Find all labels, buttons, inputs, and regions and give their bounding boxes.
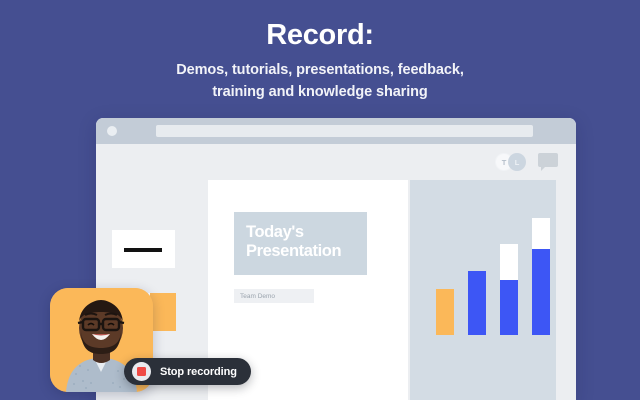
bar-chart — [410, 225, 556, 335]
page-subtitle-line-2: training and knowledge sharing — [0, 81, 640, 103]
app-toolbar: T L — [96, 144, 576, 180]
thumbnail-heading-bar — [124, 248, 162, 252]
chart-bar-segment — [436, 289, 454, 335]
page-subtitle-line-1: Demos, tutorials, presentations, feedbac… — [0, 59, 640, 81]
chart-bar — [500, 244, 518, 335]
chart-bar — [532, 218, 550, 335]
slide-thumbnail-1[interactable] — [112, 230, 175, 268]
page-title: Record: — [0, 20, 640, 52]
chart-bar-segment — [532, 218, 550, 249]
slide-title: Today's Presentation — [246, 223, 341, 261]
address-bar[interactable] — [156, 125, 533, 137]
chart-bar-segment — [500, 244, 518, 280]
chart-bar — [468, 271, 486, 335]
slide-title-line-1: Today's — [246, 223, 341, 242]
slide-title-line-2: Presentation — [246, 242, 341, 261]
slide-subtitle-chip[interactable]: Team Demo — [234, 289, 314, 303]
record-stop-square-icon — [137, 367, 146, 376]
stop-recording-button[interactable]: Stop recording — [124, 358, 251, 385]
chart-bar-segment — [500, 280, 518, 335]
chart-bar-segment — [532, 249, 550, 335]
promo-screenshot: Record: Demos, tutorials, presentations,… — [0, 0, 640, 400]
collaborator-avatars: T L — [495, 153, 526, 171]
slide-title-block: Today's Presentation — [234, 212, 367, 275]
page-subtitle: Demos, tutorials, presentations, feedbac… — [0, 59, 640, 104]
chart-bar-segment — [468, 271, 486, 335]
window-dot-icon[interactable] — [107, 126, 117, 136]
stop-recording-label: Stop recording — [160, 366, 237, 378]
record-indicator-icon — [132, 362, 151, 381]
comment-bubble-body — [538, 153, 558, 167]
avatar[interactable]: L — [508, 153, 526, 171]
comment-bubble-tail — [541, 167, 545, 171]
browser-title-bar — [96, 118, 576, 144]
chart-panel — [410, 180, 556, 400]
comment-bubble-icon[interactable] — [538, 153, 558, 169]
chart-bar — [436, 289, 454, 335]
thumbnail-accent-block — [150, 293, 176, 331]
